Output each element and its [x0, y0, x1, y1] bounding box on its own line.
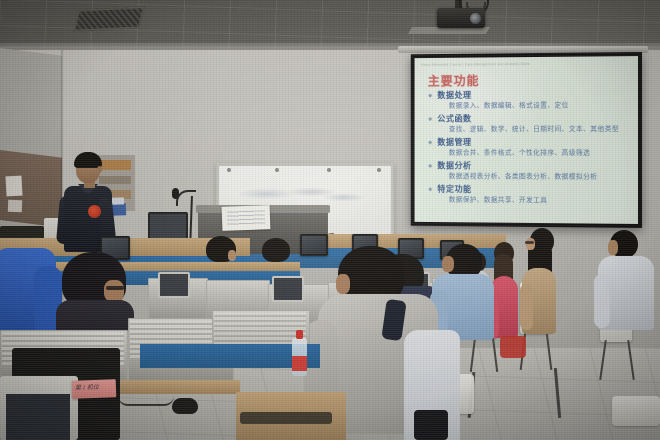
red-bag [500, 336, 526, 358]
desk-position-sign: 第 1 机位 [72, 379, 117, 399]
bottle-cap [296, 330, 303, 339]
presenter-monitor-screen [150, 214, 186, 238]
wall-notice-a [5, 176, 22, 197]
computer-mouse [172, 398, 198, 414]
head-hair [262, 238, 290, 262]
slide-section-detail: 数据保护、数据共享、开发工具 [426, 195, 632, 207]
wall-decor-stripe-a [99, 160, 131, 170]
presenter-monitor [148, 212, 188, 240]
slide-section: 数据分析 数据透视表分析、各类图表分析、数据模拟分析 [426, 160, 632, 183]
lab-monitor [300, 234, 328, 256]
projector-lens-icon [470, 13, 481, 24]
classroom-photo: Excel Advanced Course | Data Management … [0, 0, 660, 440]
ear [336, 274, 350, 294]
notes-text-lines [227, 210, 265, 225]
ceiling-air-vent-icon [73, 6, 145, 31]
face-edge [228, 250, 236, 261]
glasses-icon [525, 241, 534, 244]
wall-notice-b [8, 200, 22, 212]
slide-section-detail: 数据录入、数据编辑、格式设置、定位 [426, 100, 632, 112]
desk-sign-text: 第 1 机位 [75, 382, 99, 392]
microphone-icon [172, 188, 179, 199]
slide-section-detail: 数据透视表分析、各类图表分析、数据模拟分析 [426, 171, 632, 183]
slide-section-heading: 数据分析 [426, 160, 632, 172]
lecture-notes [222, 205, 271, 231]
slide-content-list: 数据处理 数据录入、数据编辑、格式设置、定位 公式函数 查找、逻辑、数学、统计、… [426, 88, 632, 208]
slide-section-heading: 数据管理 [426, 136, 632, 148]
slide-header-line: Excel Advanced Course | Data Management … [421, 61, 631, 70]
bottle-label [292, 356, 307, 371]
whiteboard-clip [377, 168, 381, 172]
slide-surface: Excel Advanced Course | Data Management … [415, 56, 638, 224]
keyboard [240, 412, 332, 424]
face-edge [104, 280, 124, 302]
slide-section: 数据管理 数据合并、条件格式、个性化排序、高级筛选 [426, 136, 632, 159]
whiteboard-clip [227, 168, 231, 172]
face [608, 240, 618, 255]
arm [520, 284, 533, 330]
presenter-shirt-logo [88, 205, 101, 218]
slide-section: 数据处理 数据录入、数据编辑、格式设置、定位 [426, 88, 632, 112]
slide-title: 主要功能 [428, 70, 480, 89]
glasses-icon [106, 286, 124, 290]
presenter-ear [97, 166, 102, 173]
whiteboard-clip [327, 168, 331, 172]
slide-section-heading: 公式函数 [426, 112, 632, 124]
wall-decor-stripe-b [99, 176, 131, 184]
arm [594, 274, 610, 328]
monitor-screen [274, 278, 302, 300]
whiteboard-clip [275, 168, 279, 172]
face-edge [442, 256, 454, 272]
slide-section: 公式函数 查找、逻辑、数学、统计、日期时间、文本、其他类型 [426, 112, 632, 135]
slide-section-detail: 数据合并、条件格式、个性化排序、高级筛选 [426, 148, 632, 159]
cable [118, 396, 174, 406]
slide-section-detail: 查找、逻辑、数学、统计、日期时间、文本、其他类型 [426, 124, 632, 135]
face [526, 238, 535, 250]
lab-monitor-silver [158, 272, 190, 298]
monitor-screen [6, 394, 70, 440]
projection-screen: Excel Advanced Course | Data Management … [411, 52, 642, 228]
slide-section: 特定功能 数据保护、数据共享、开发工具 [426, 183, 632, 207]
projector-mount-plate [408, 27, 490, 34]
monitor-screen [160, 274, 188, 296]
microphone-gooseneck [176, 190, 196, 206]
monitor-screen [302, 236, 326, 254]
folding-chair-seat [612, 396, 660, 426]
lab-monitor-silver [272, 276, 304, 302]
attendee-right-legs [414, 410, 448, 440]
slide-section-heading: 数据处理 [426, 88, 632, 101]
